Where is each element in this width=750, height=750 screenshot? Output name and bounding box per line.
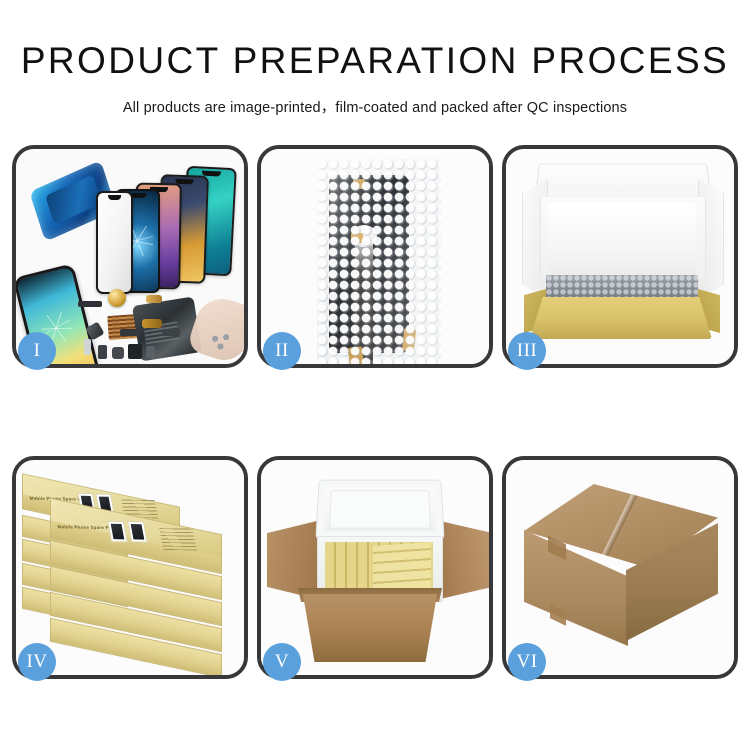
screws-icon bbox=[210, 334, 236, 350]
open-white-box-illustration bbox=[506, 149, 734, 364]
carton-with-foam-box-illustration bbox=[261, 460, 489, 675]
part-speaker-icon bbox=[78, 301, 102, 307]
part-sim-tray-icon bbox=[84, 339, 91, 355]
part-small-4-icon bbox=[146, 346, 155, 358]
step-badge-6: VI bbox=[508, 643, 546, 681]
notch-icon bbox=[108, 195, 122, 200]
bubble-wrapped-screen-illustration bbox=[261, 149, 489, 364]
part-ribbon-icon bbox=[120, 329, 142, 336]
process-step-4: Mobile Phone Spare Parts Mobile Phone Sp… bbox=[12, 456, 248, 679]
process-step-6: VI bbox=[502, 456, 738, 679]
bag-sheen-icon bbox=[317, 159, 441, 364]
step-3-image bbox=[506, 149, 734, 364]
hand-icon bbox=[186, 292, 244, 364]
page-title: PRODUCT PREPARATION PROCESS bbox=[0, 42, 750, 79]
part-flex-gold-2-icon bbox=[142, 319, 162, 328]
step-4-image: Mobile Phone Spare Parts Mobile Phone Sp… bbox=[16, 460, 244, 675]
header: PRODUCT PREPARATION PROCESS All products… bbox=[0, 0, 750, 117]
part-flex-gold-icon bbox=[146, 295, 162, 303]
retail-boxes-inside-2-icon bbox=[373, 542, 431, 592]
step-badge-2: II bbox=[263, 332, 301, 370]
process-step-2: II bbox=[257, 145, 493, 368]
part-small-2-icon bbox=[112, 347, 124, 359]
sealed-carton-illustration bbox=[506, 460, 734, 675]
product-preparation-infographic: PRODUCT PREPARATION PROCESS All products… bbox=[0, 0, 750, 750]
step-badge-4: IV bbox=[18, 643, 56, 681]
process-steps-grid: I bbox=[12, 145, 738, 679]
foam-sheet-icon bbox=[548, 203, 696, 277]
bubble-bag-icon bbox=[317, 159, 441, 364]
step-1-image bbox=[16, 149, 244, 364]
step-badge-3: III bbox=[508, 332, 546, 370]
part-small-1-icon bbox=[98, 345, 107, 359]
step-6-image bbox=[506, 460, 734, 675]
step-5-image bbox=[261, 460, 489, 675]
part-small-3-icon bbox=[128, 344, 142, 359]
foam-box-lid-icon bbox=[315, 480, 444, 540]
process-step-1: I bbox=[12, 145, 248, 368]
glass-panel-icon bbox=[96, 191, 133, 294]
coil-part-icon bbox=[108, 289, 126, 307]
phones-and-parts-illustration bbox=[16, 149, 244, 364]
process-step-3: III bbox=[502, 145, 738, 368]
page-subtitle: All products are image-printed，film-coat… bbox=[0, 96, 750, 117]
retail-box-feature-lines-2 bbox=[159, 527, 197, 550]
step-badge-1: I bbox=[18, 332, 56, 370]
part-ribbon-2-icon bbox=[162, 329, 180, 336]
step-2-image bbox=[261, 149, 489, 364]
box-front-gold-icon bbox=[530, 297, 712, 339]
stacked-boxes-illustration: Mobile Phone Spare Parts Mobile Phone Sp… bbox=[16, 460, 244, 675]
step-badge-5: V bbox=[263, 643, 301, 681]
carton-front-icon bbox=[297, 594, 443, 662]
process-step-5: V bbox=[257, 456, 493, 679]
